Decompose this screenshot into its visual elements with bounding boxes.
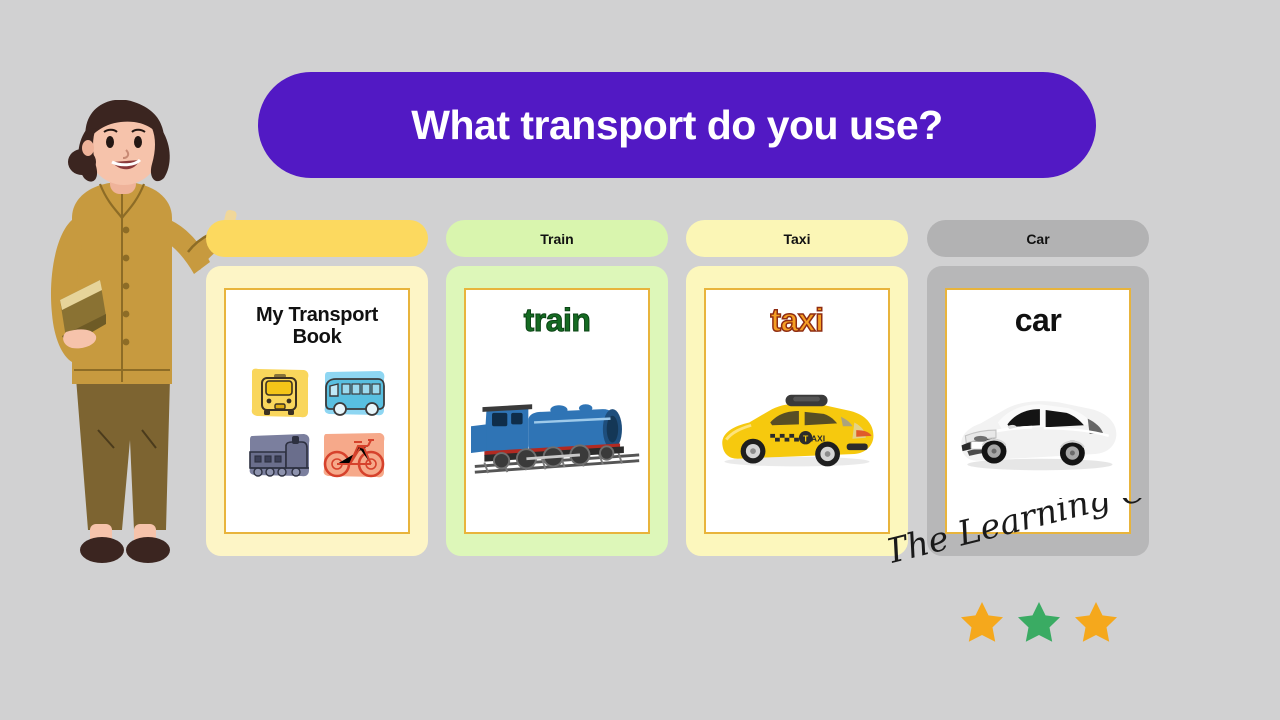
card-inner: car (945, 288, 1131, 534)
steam-locomotive-photo (471, 388, 643, 481)
tab-transport-book[interactable] (206, 220, 428, 257)
card-taxi[interactable]: taxi (686, 266, 908, 556)
tab-label: Train (540, 231, 573, 247)
star-1-icon (960, 600, 1004, 642)
tab-label: Taxi (784, 231, 811, 247)
star-3-icon (1074, 600, 1118, 642)
star-rating (960, 598, 1130, 644)
flashcard-word-taxi: taxi (770, 304, 823, 338)
card-transport-book[interactable]: My Transport Book (206, 266, 428, 556)
bicycle-icon (320, 428, 388, 484)
star-2-icon (1017, 600, 1061, 642)
blue-bus-icon (320, 366, 388, 422)
card-inner: taxi (704, 288, 890, 534)
page-title: What transport do you use? (411, 102, 942, 149)
column-taxi[interactable]: Taxi taxi (686, 220, 908, 556)
train-icon (246, 428, 314, 484)
tab-taxi[interactable]: Taxi (686, 220, 908, 257)
tab-label: Car (1026, 231, 1049, 247)
card-train[interactable]: train (446, 266, 668, 556)
flashcard-word-train: train (524, 304, 591, 338)
column-transport-book[interactable]: My Transport Book (206, 220, 428, 556)
tab-train[interactable]: Train (446, 220, 668, 257)
slide-canvas: What transport do you use? (0, 0, 1280, 720)
column-train[interactable]: Train train (446, 220, 668, 556)
book-icon-grid (245, 365, 389, 485)
svg-text:AXI: AXI (811, 434, 825, 444)
book-title-line-1: My Transport (250, 304, 384, 326)
white-car-photo (952, 384, 1124, 485)
flashcard-word-car: car (1015, 304, 1062, 338)
yellow-bus-icon (246, 366, 314, 422)
title-banner: What transport do you use? (258, 72, 1096, 178)
yellow-taxi-photo: T AXI (711, 384, 883, 485)
tab-car[interactable]: Car (927, 220, 1149, 257)
card-inner: train (464, 288, 650, 534)
card-car[interactable]: car (927, 266, 1149, 556)
svg-text:T: T (803, 434, 809, 444)
book-title-line-2: Book (287, 326, 348, 348)
column-car[interactable]: Car car (927, 220, 1149, 556)
flashcard-columns: My Transport Book (206, 220, 1156, 560)
card-inner: My Transport Book (224, 288, 410, 534)
